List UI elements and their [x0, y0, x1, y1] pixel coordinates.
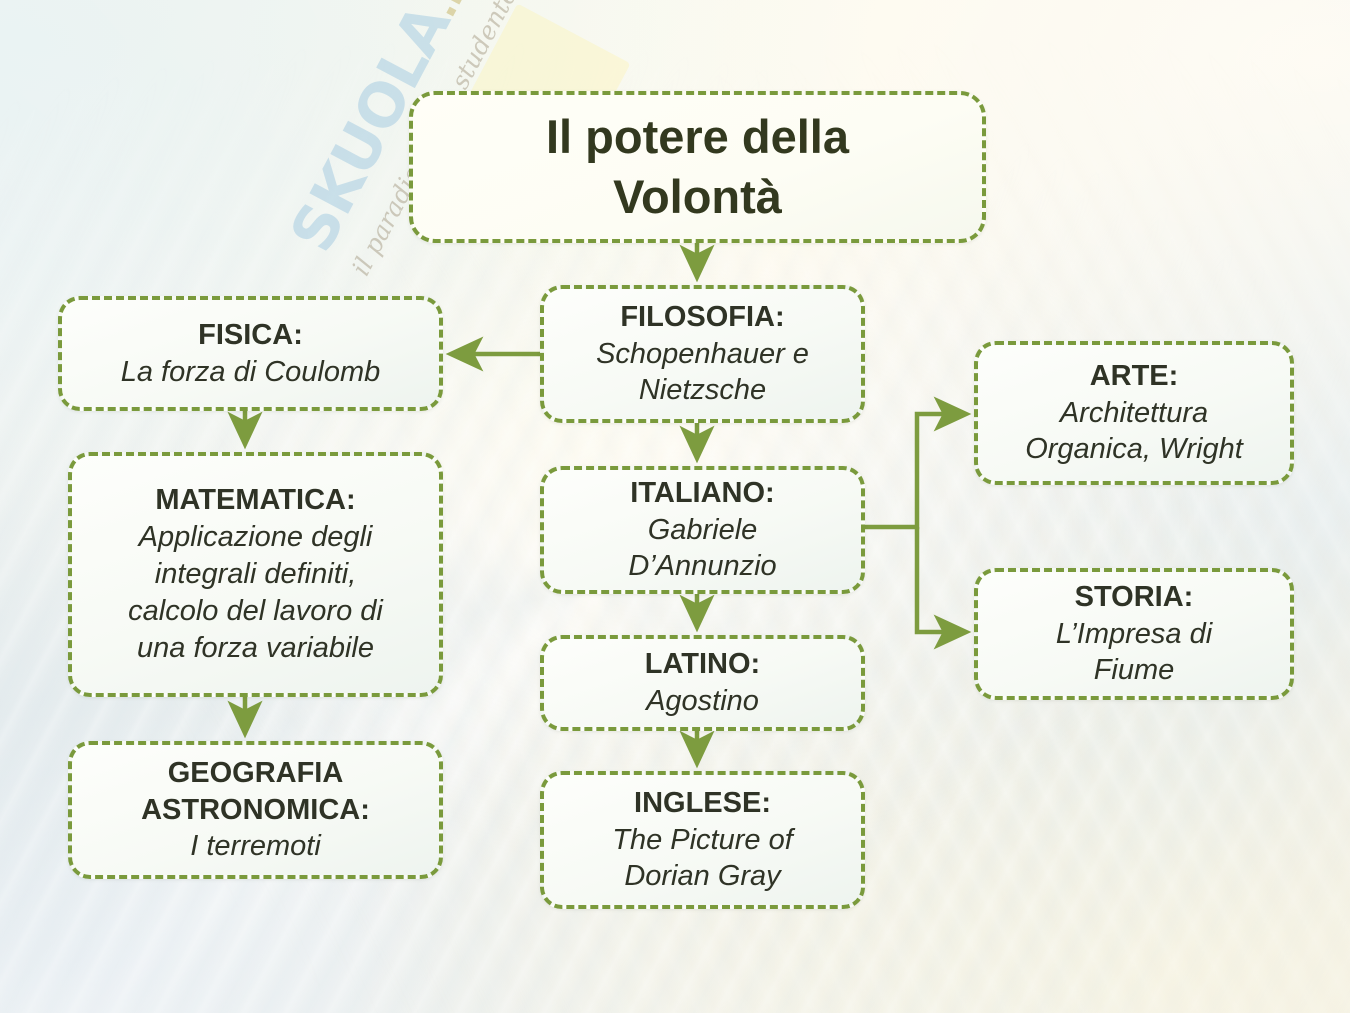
edge-italiano-to-storia: [917, 527, 966, 632]
node-storia[interactable]: STORIA: L’Impresa di Fiume: [974, 568, 1294, 700]
node-fisica-subject: FISICA:: [198, 317, 303, 354]
node-italiano-detail-2: D’Annunzio: [628, 548, 776, 585]
node-inglese-detail-2: Dorian Gray: [624, 858, 780, 895]
title-line-2: Volontà: [613, 167, 782, 227]
node-matematica[interactable]: MATEMATICA: Applicazione degli integrali…: [68, 452, 443, 697]
node-filosofia-detail-2: Nietzsche: [639, 372, 766, 409]
node-geografia-subject-2: ASTRONOMICA:: [141, 792, 370, 829]
node-fisica[interactable]: FISICA: La forza di Coulomb: [58, 296, 443, 411]
node-filosofia[interactable]: FILOSOFIA: Schopenhauer e Nietzsche: [540, 285, 865, 423]
node-latino[interactable]: LATINO: Agostino: [540, 635, 865, 731]
node-inglese[interactable]: INGLESE: The Picture of Dorian Gray: [540, 771, 865, 909]
node-inglese-subject: INGLESE:: [634, 785, 771, 822]
node-storia-subject: STORIA:: [1075, 579, 1194, 616]
node-italiano-subject: ITALIANO:: [630, 475, 774, 512]
node-filosofia-detail-1: Schopenhauer e: [596, 336, 809, 373]
watermark-logo-suffix: .net: [419, 0, 500, 25]
node-fisica-detail-1: La forza di Coulomb: [121, 354, 381, 391]
node-italiano-detail-1: Gabriele: [648, 512, 758, 549]
node-geografia[interactable]: GEOGRAFIA ASTRONOMICA: I terremoti: [68, 741, 443, 879]
title-line-1: Il potere della: [546, 107, 849, 167]
node-italiano[interactable]: ITALIANO: Gabriele D’Annunzio: [540, 466, 865, 594]
node-filosofia-subject: FILOSOFIA:: [620, 299, 784, 336]
node-latino-subject: LATINO:: [645, 646, 760, 683]
node-geografia-detail-1: I terremoti: [190, 828, 321, 865]
node-inglese-detail-1: The Picture of: [612, 822, 793, 859]
node-matematica-detail-3: calcolo del lavoro di: [128, 593, 383, 630]
node-matematica-detail-4: una forza variabile: [137, 630, 374, 667]
node-arte-detail-2: Organica, Wright: [1025, 431, 1243, 468]
node-matematica-detail-1: Applicazione degli: [139, 519, 373, 556]
node-arte-detail-1: Architettura: [1060, 395, 1208, 432]
node-geografia-subject-1: GEOGRAFIA: [168, 755, 344, 792]
concept-map-canvas: SKUOLA.net il paradiso dello studente Il…: [0, 0, 1350, 1013]
edge-italiano-to-arte: [865, 414, 966, 527]
node-storia-detail-1: L’Impresa di: [1056, 616, 1212, 653]
node-arte-subject: ARTE:: [1090, 358, 1179, 395]
node-storia-detail-2: Fiume: [1094, 652, 1175, 689]
node-title[interactable]: Il potere della Volontà: [409, 91, 986, 243]
node-matematica-detail-2: integrali definiti,: [155, 556, 357, 593]
node-matematica-subject: MATEMATICA:: [155, 482, 355, 519]
node-arte[interactable]: ARTE: Architettura Organica, Wright: [974, 341, 1294, 485]
node-latino-detail-1: Agostino: [646, 683, 759, 720]
